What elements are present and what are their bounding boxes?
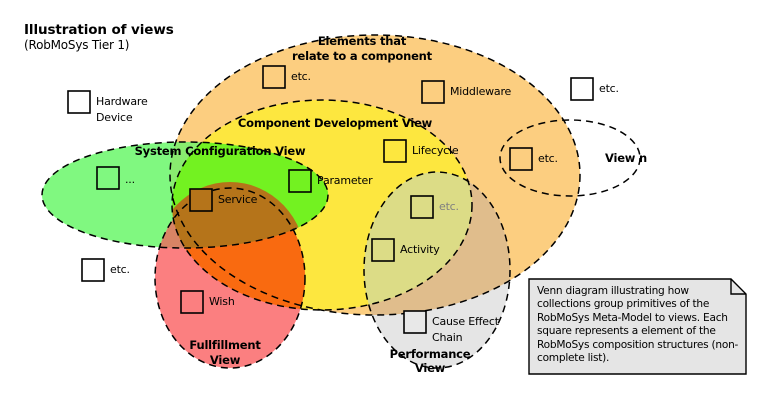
ellipse-title-component-development-view: Component Development View <box>238 116 433 130</box>
item-label-etc-view-n: etc. <box>538 152 558 165</box>
ellipse-title-elements-relate-to-component-line1: Elements that <box>318 34 407 48</box>
item-label-cause-effect-chain-line2: Chain <box>432 331 463 344</box>
item-square-activity[interactable] <box>372 239 394 261</box>
note-text: Venn diagram illustrating how collection… <box>537 285 742 365</box>
page-subtitle: (RobMoSys Tier 1) <box>24 38 324 53</box>
item-label-ellipsis-green: ... <box>125 173 135 186</box>
item-square-ellipsis-green[interactable] <box>97 167 119 189</box>
note-box: Venn diagram illustrating how collection… <box>529 279 746 374</box>
item-square-middleware[interactable] <box>422 81 444 103</box>
item-label-parameter: Parameter <box>317 174 373 187</box>
item-hardware-device[interactable]: Hardware Device <box>68 91 148 124</box>
item-etc-top-right-outside[interactable]: etc. <box>571 78 619 100</box>
ellipse-title-fullfillment-view-line1: Fullfillment <box>189 338 261 352</box>
item-label-etc-olive: etc. <box>439 200 459 213</box>
item-label-cause-effect-chain-line1: Cause Effect <box>432 315 500 328</box>
title-block: Illustration of views (RobMoSys Tier 1) <box>24 22 324 53</box>
item-square-etc-view-n[interactable] <box>510 148 532 170</box>
item-square-hardware-device[interactable] <box>68 91 90 113</box>
item-etc-top-left-outside[interactable]: etc. <box>82 259 130 281</box>
item-label-wish: Wish <box>209 295 235 308</box>
item-label-lifecycle: Lifecycle <box>412 144 459 157</box>
item-label-etc-top-left-outside: etc. <box>110 263 130 276</box>
diagram-canvas: Elements that relate to a component Comp… <box>0 0 760 400</box>
item-square-parameter[interactable] <box>289 170 311 192</box>
ellipse-title-fullfillment-view-line2: View <box>210 353 241 367</box>
item-square-wish[interactable] <box>181 291 203 313</box>
item-square-service[interactable] <box>190 189 212 211</box>
item-label-middleware: Middleware <box>450 85 512 98</box>
ellipse-title-performance-view-line1: Performance <box>390 347 471 361</box>
ellipse-title-system-configuration-view: System Configuration View <box>135 144 306 158</box>
item-label-activity: Activity <box>400 243 440 256</box>
item-square-etc-orange-left[interactable] <box>263 66 285 88</box>
item-square-lifecycle[interactable] <box>384 140 406 162</box>
item-label-service: Service <box>218 193 258 206</box>
page-title: Illustration of views <box>24 22 324 38</box>
item-square-cause-effect-chain[interactable] <box>404 311 426 333</box>
item-label-hardware-device-line2: Device <box>96 111 133 124</box>
item-square-etc-top-right-outside[interactable] <box>571 78 593 100</box>
item-label-etc-top-right-outside: etc. <box>599 82 619 95</box>
item-label-etc-orange-left: etc. <box>291 70 311 83</box>
item-square-etc-top-left-outside[interactable] <box>82 259 104 281</box>
ellipse-title-view-n: View n <box>605 151 647 165</box>
item-label-hardware-device-line1: Hardware <box>96 95 148 108</box>
ellipse-title-performance-view-line2: View <box>415 361 446 375</box>
item-square-etc-olive[interactable] <box>411 196 433 218</box>
